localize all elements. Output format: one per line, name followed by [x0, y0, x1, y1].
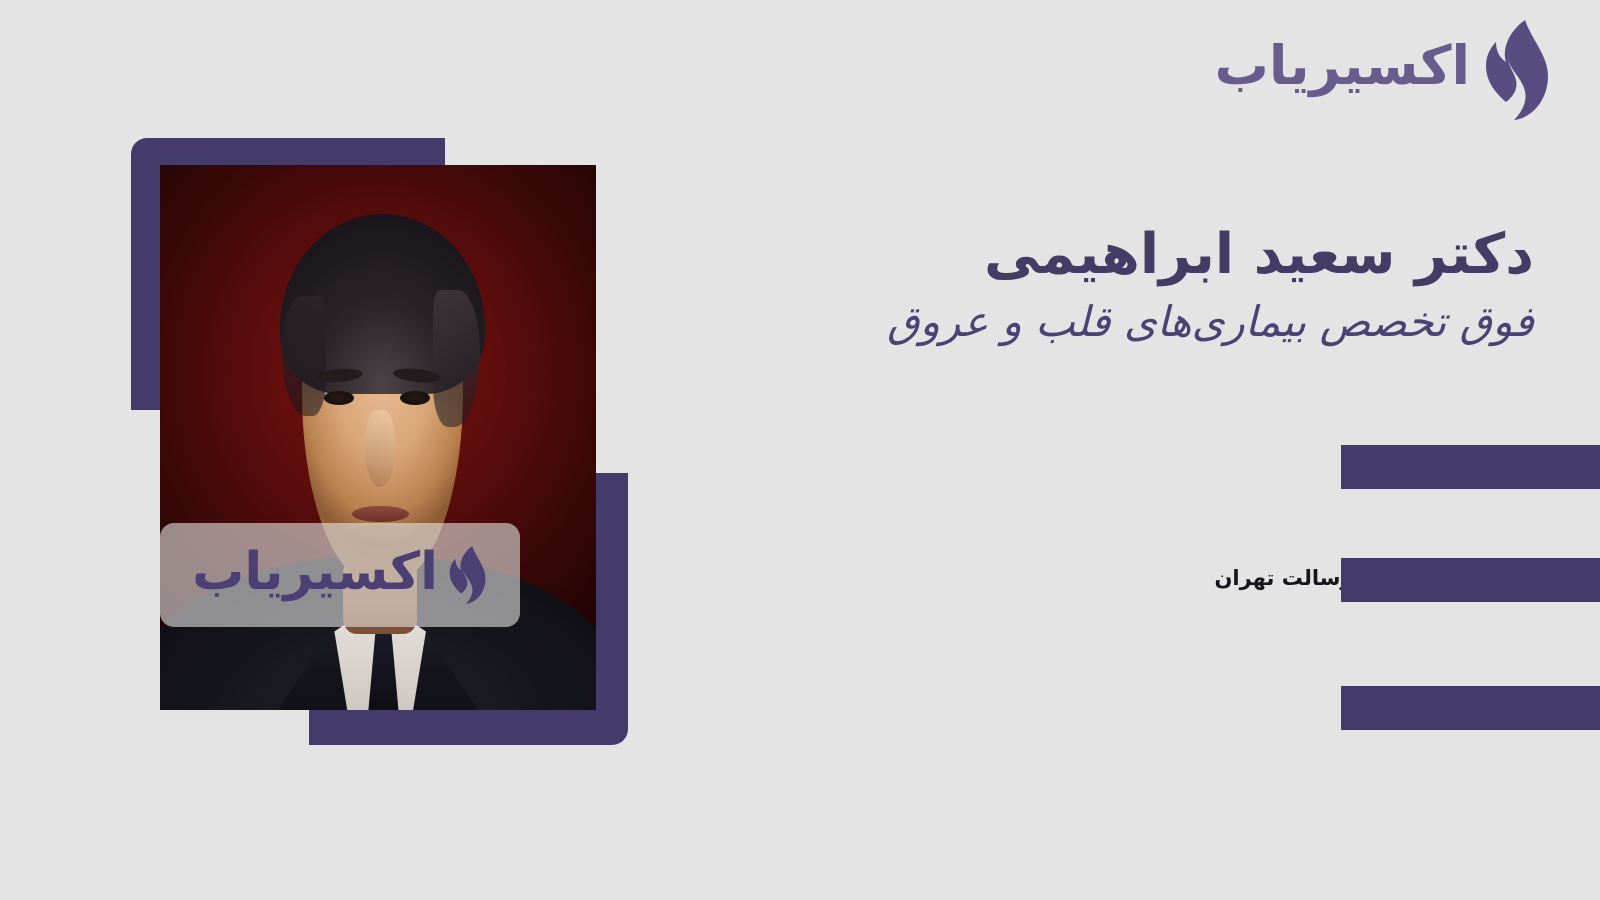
- photo-watermark: اکسیریاب: [160, 523, 520, 627]
- portrait-hair-side-left: [282, 296, 326, 416]
- brand-logo[interactable]: اکسیریاب: [1215, 18, 1552, 122]
- watermark-brand-name: اکسیریاب: [192, 546, 438, 604]
- doctor-photo-composition: اکسیریاب: [131, 138, 628, 745]
- flame-drop-icon: [446, 545, 488, 605]
- doctor-name: دکتر سعید ابراهیمی: [714, 222, 1534, 288]
- profile-card-canvas: اکسیریاب: [0, 0, 1600, 900]
- accent-bar-3: [1341, 686, 1600, 730]
- flame-drop-icon: [1480, 18, 1552, 122]
- accent-bar-2: [1341, 558, 1600, 602]
- portrait-nose: [365, 410, 396, 486]
- doctor-info-block: دکتر سعید ابراهیمی فوق تخصص بیماری‌های ق…: [714, 222, 1534, 349]
- brand-name: اکسیریاب: [1215, 39, 1470, 101]
- portrait-mouth: [352, 506, 409, 522]
- doctor-photo: [160, 165, 596, 710]
- accent-bar-1: [1341, 445, 1600, 489]
- doctor-specialty: فوق تخصص بیماری‌های قلب و عروق: [714, 296, 1534, 349]
